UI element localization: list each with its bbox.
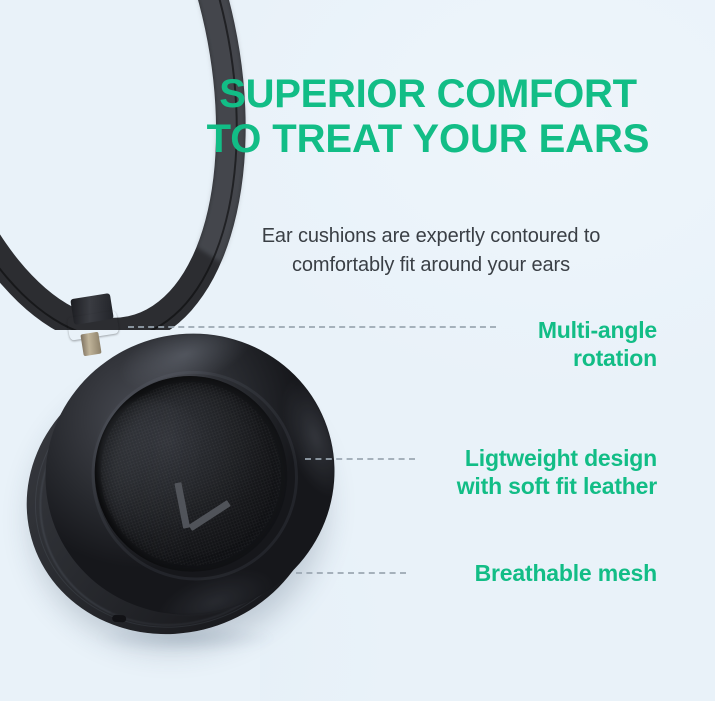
subtitle-line-2: comfortably fit around your ears bbox=[196, 251, 666, 280]
callout-1-line-1: Multi-angle bbox=[538, 316, 657, 344]
product-feature-poster: SUPERIOR COMFORT TO TREAT YOUR EARS Ear … bbox=[0, 0, 715, 701]
callout-1-line-2: rotation bbox=[538, 344, 657, 372]
callout-multi-angle-rotation: Multi-angle rotation bbox=[538, 316, 657, 372]
callout-2-line-2: with soft fit leather bbox=[457, 472, 657, 500]
callout-breathable-mesh: Breathable mesh bbox=[475, 559, 657, 587]
subtitle: Ear cushions are expertly contoured to c… bbox=[196, 222, 666, 280]
leader-line-breathable-mesh bbox=[296, 572, 406, 574]
earcup-port bbox=[112, 615, 126, 623]
headline: SUPERIOR COMFORT TO TREAT YOUR EARS bbox=[178, 72, 678, 162]
callout-lightweight-design: Ligtweight design with soft fit leather bbox=[457, 444, 657, 500]
leader-line-lightweight-design bbox=[305, 458, 415, 460]
headline-line-1: SUPERIOR COMFORT bbox=[178, 72, 678, 117]
subtitle-line-1: Ear cushions are expertly contoured to bbox=[196, 222, 666, 251]
headline-line-2: TO TREAT YOUR EARS bbox=[178, 117, 678, 162]
callout-3-line-1: Breathable mesh bbox=[475, 559, 657, 587]
leader-line-multi-angle-rotation bbox=[128, 326, 496, 328]
callout-2-line-1: Ligtweight design bbox=[457, 444, 657, 472]
